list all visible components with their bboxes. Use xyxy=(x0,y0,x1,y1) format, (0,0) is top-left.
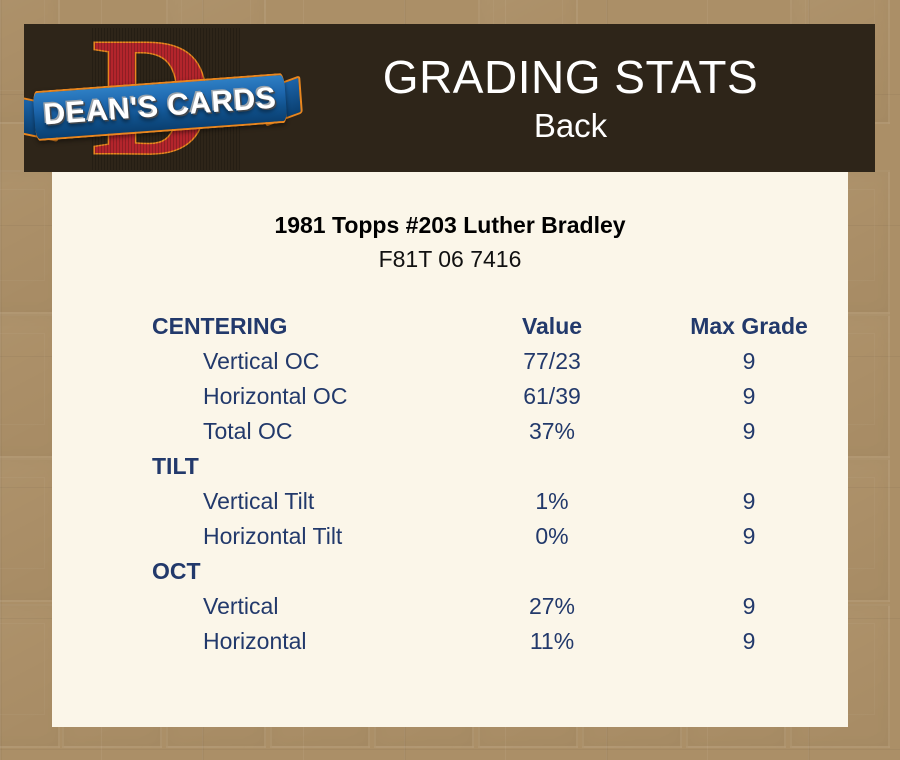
section-spacer-grade xyxy=(650,554,848,589)
row-value: 11% xyxy=(454,624,650,659)
row-value: 27% xyxy=(454,589,650,624)
row-max-grade: 9 xyxy=(650,379,848,414)
column-header-centering: CENTERING xyxy=(52,309,454,344)
stats-table-head: CENTERING Value Max Grade xyxy=(52,309,848,344)
table-row: Horizontal Tilt 0% 9 xyxy=(52,519,848,554)
row-value: 37% xyxy=(454,414,650,449)
row-value: 77/23 xyxy=(454,344,650,379)
table-header-row: CENTERING Value Max Grade xyxy=(52,309,848,344)
stats-table-body: Vertical OC 77/23 9 Horizontal OC 61/39 … xyxy=(52,344,848,659)
row-label: Vertical Tilt xyxy=(52,484,454,519)
table-row: Vertical Tilt 1% 9 xyxy=(52,484,848,519)
card-title: 1981 Topps #203 Luther Bradley xyxy=(52,211,848,239)
row-label: Vertical OC xyxy=(52,344,454,379)
section-spacer-value xyxy=(454,554,650,589)
section-header-oct: OCT xyxy=(52,554,848,589)
column-header-value: Value xyxy=(454,309,650,344)
page-subtitle: Back xyxy=(292,106,849,146)
section-spacer-value xyxy=(454,449,650,484)
content-panel: 1981 Topps #203 Luther Bradley F81T 06 7… xyxy=(52,172,848,727)
table-row: Horizontal OC 61/39 9 xyxy=(52,379,848,414)
table-row: Total OC 37% 9 xyxy=(52,414,848,449)
row-value: 1% xyxy=(454,484,650,519)
page-header: D DEAN'S CARDS GRADING STATS Back xyxy=(24,24,875,172)
row-label: Horizontal Tilt xyxy=(52,519,454,554)
logo-wordmark: DEAN'S CARDS xyxy=(33,73,288,141)
table-row: Vertical OC 77/23 9 xyxy=(52,344,848,379)
page-title: GRADING STATS xyxy=(292,50,849,104)
row-value: 0% xyxy=(454,519,650,554)
row-max-grade: 9 xyxy=(650,519,848,554)
table-row: Horizontal 11% 9 xyxy=(52,624,848,659)
column-header-max-grade: Max Grade xyxy=(650,309,848,344)
row-max-grade: 9 xyxy=(650,344,848,379)
section-label: TILT xyxy=(52,449,454,484)
row-max-grade: 9 xyxy=(650,624,848,659)
row-label: Horizontal OC xyxy=(52,379,454,414)
row-max-grade: 9 xyxy=(650,484,848,519)
logo-ribbon: DEAN'S CARDS xyxy=(33,73,288,141)
row-label: Vertical xyxy=(52,589,454,624)
row-max-grade: 9 xyxy=(650,414,848,449)
row-label: Horizontal xyxy=(52,624,454,659)
deans-cards-logo[interactable]: D DEAN'S CARDS xyxy=(24,24,292,172)
row-max-grade: 9 xyxy=(650,589,848,624)
row-value: 61/39 xyxy=(454,379,650,414)
row-label: Total OC xyxy=(52,414,454,449)
section-spacer-grade xyxy=(650,449,848,484)
table-row: Vertical 27% 9 xyxy=(52,589,848,624)
header-title-group: GRADING STATS Back xyxy=(292,50,875,146)
section-label: OCT xyxy=(52,554,454,589)
section-header-tilt: TILT xyxy=(52,449,848,484)
grading-stats-table: CENTERING Value Max Grade Vertical OC 77… xyxy=(52,309,848,659)
card-serial-number: F81T 06 7416 xyxy=(52,245,848,273)
